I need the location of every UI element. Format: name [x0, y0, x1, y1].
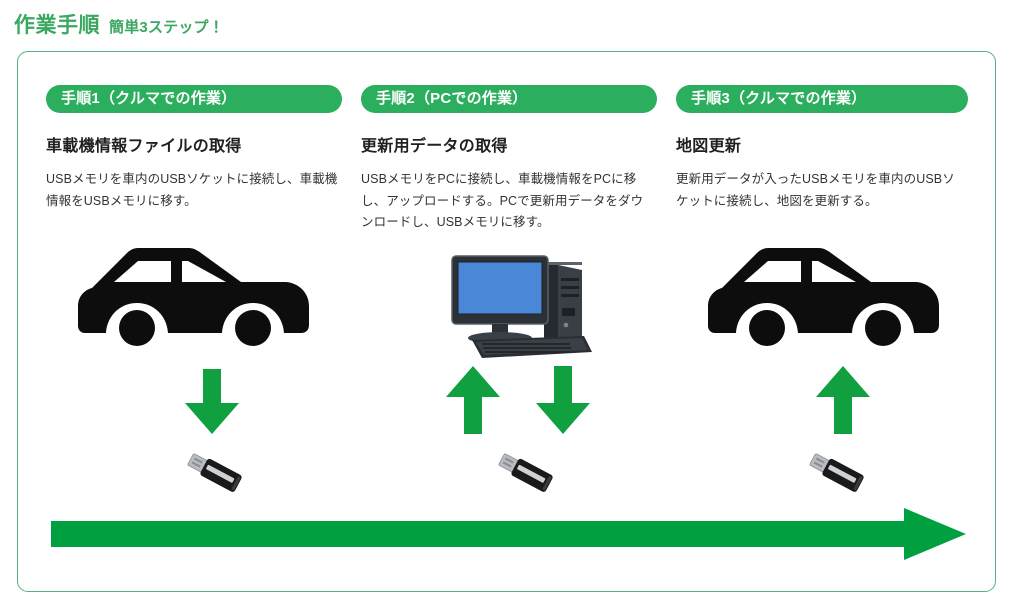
- step-3-heading: 地図更新: [676, 132, 972, 156]
- steps-container: 手順1（クルマでの作業） 車載機情報ファイルの取得 USBメモリを車内のUSBソ…: [18, 52, 995, 591]
- step-1-heading: 車載機情報ファイルの取得: [46, 132, 342, 156]
- steps-panel: 手順1（クルマでの作業） 車載機情報ファイルの取得 USBメモリを車内のUSBソ…: [17, 51, 996, 592]
- step-card-2: 手順2（PCでの作業） 更新用データの取得 USBメモリをPCに接続し、車載機情…: [361, 85, 657, 234]
- step-card-1: 手順1（クルマでの作業） 車載機情報ファイルの取得 USBメモリを車内のUSBソ…: [46, 85, 342, 212]
- step-3-body: 更新用データが入ったUSBメモリを車内のUSBソケットに接続し、地図を更新する。: [676, 169, 964, 212]
- page-title-sub: 簡単3ステップ！: [109, 16, 224, 37]
- step-1-body: USBメモリを車内のUSBソケットに接続し、車載機情報をUSBメモリに移す。: [46, 169, 338, 212]
- page-title: 作業手順 簡単3ステップ！: [14, 9, 224, 39]
- step-3-pill: 手順3（クルマでの作業）: [676, 85, 968, 113]
- step-card-3: 手順3（クルマでの作業） 地図更新 更新用データが入ったUSBメモリを車内のUS…: [676, 85, 972, 212]
- step-2-heading: 更新用データの取得: [361, 132, 657, 156]
- step-2-body: USBメモリをPCに接続し、車載機情報をPCに移し、アップロードする。PCで更新…: [361, 169, 653, 234]
- page-title-main: 作業手順: [14, 9, 100, 39]
- step-1-pill: 手順1（クルマでの作業）: [46, 85, 342, 113]
- step-2-pill: 手順2（PCでの作業）: [361, 85, 657, 113]
